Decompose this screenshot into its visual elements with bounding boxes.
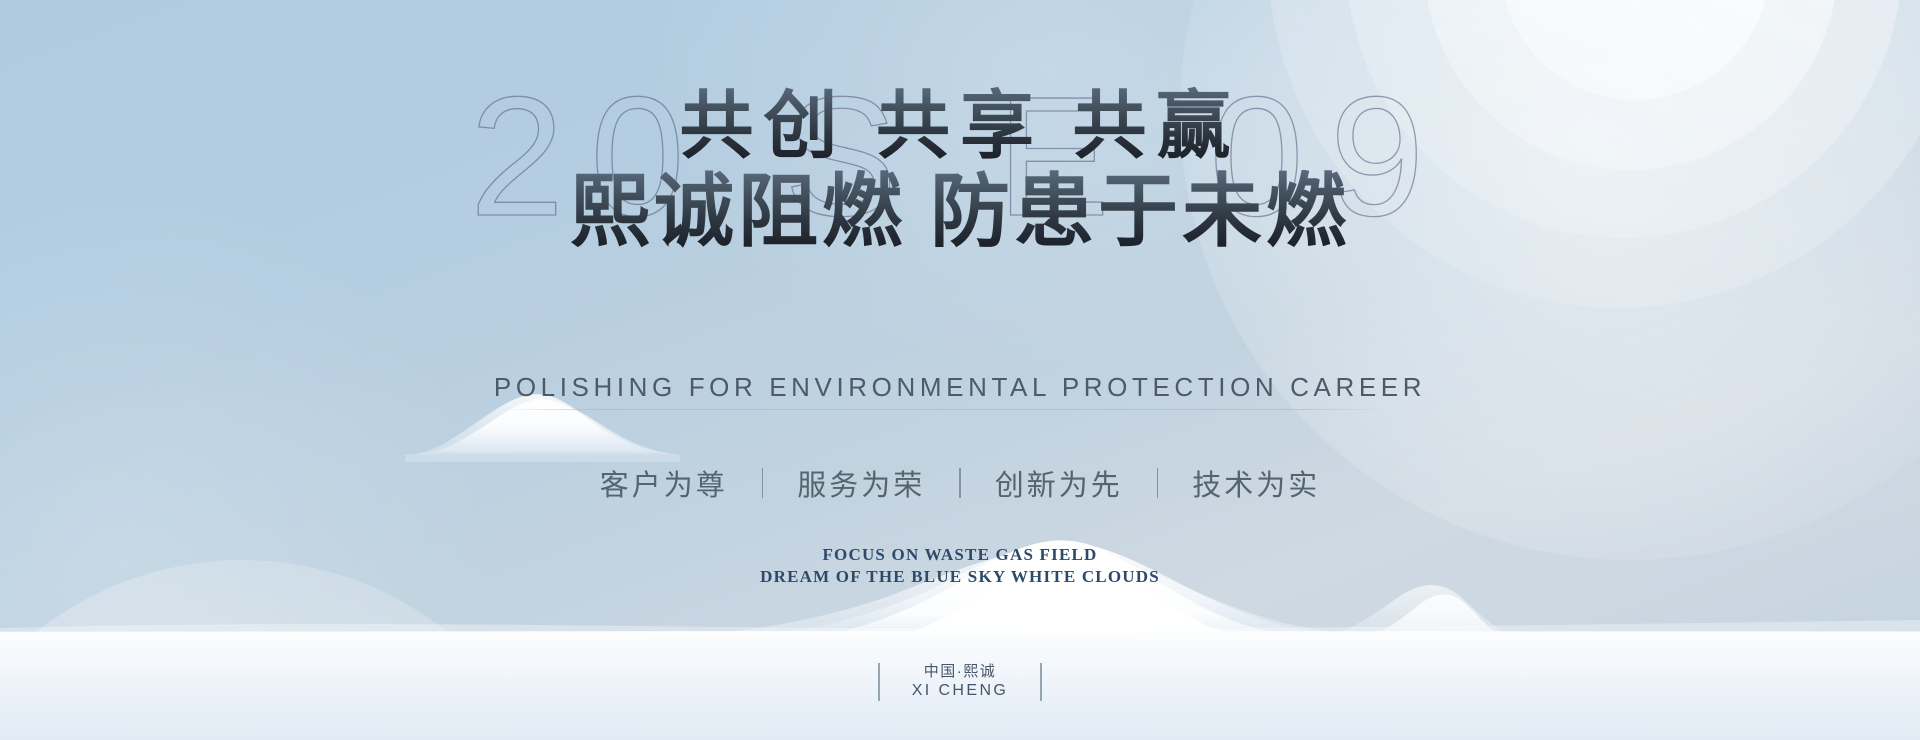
brand-badge: 中国·熙诚 XI CHENG (0, 662, 1920, 701)
value-separator-1 (762, 468, 764, 498)
marketing-banner: 20 S E 09 (0, 0, 1920, 740)
value-phrase-3: 创新为先 (995, 462, 1123, 504)
serif-slogan-line-1: FOCUS ON WASTE GAS FIELD (0, 544, 1920, 566)
value-phrase-4: 技术为实 (1192, 462, 1320, 504)
badge-left-bar-icon (878, 663, 880, 701)
english-tagline: POLISHING FOR ENVIRONMENTAL PROTECTION C… (0, 372, 1920, 403)
serif-slogan-line-2: DREAM OF THE BLUE SKY WHITE CLOUDS (0, 566, 1920, 588)
badge-en-name: XI CHENG (912, 682, 1009, 699)
badge-cn-name: 中国·熙诚 (924, 663, 997, 680)
badge-right-bar-icon (1040, 663, 1042, 701)
value-phrase-1: 客户为尊 (600, 462, 728, 504)
value-separator-2 (959, 468, 961, 498)
headline-line-2: 熙诚阻燃 防患于未燃 (0, 170, 1920, 256)
serif-slogan-block: FOCUS ON WASTE GAS FIELD DREAM OF THE BL… (0, 544, 1920, 588)
horizon-line (0, 631, 1920, 633)
headline-block: 共创 共享 共赢 熙诚阻燃 防患于未燃 (0, 86, 1920, 256)
headline-line-1: 共创 共享 共赢 (0, 86, 1920, 168)
value-separator-3 (1157, 468, 1159, 498)
tagline-underline (497, 409, 1390, 410)
badge-text: 中国·熙诚 XI CHENG (912, 662, 1009, 701)
value-phrase-row: 客户为尊 服务为荣 创新为先 技术为实 (0, 462, 1920, 504)
ring-inner-icon (1500, 0, 1770, 100)
value-phrase-2: 服务为荣 (797, 462, 925, 504)
